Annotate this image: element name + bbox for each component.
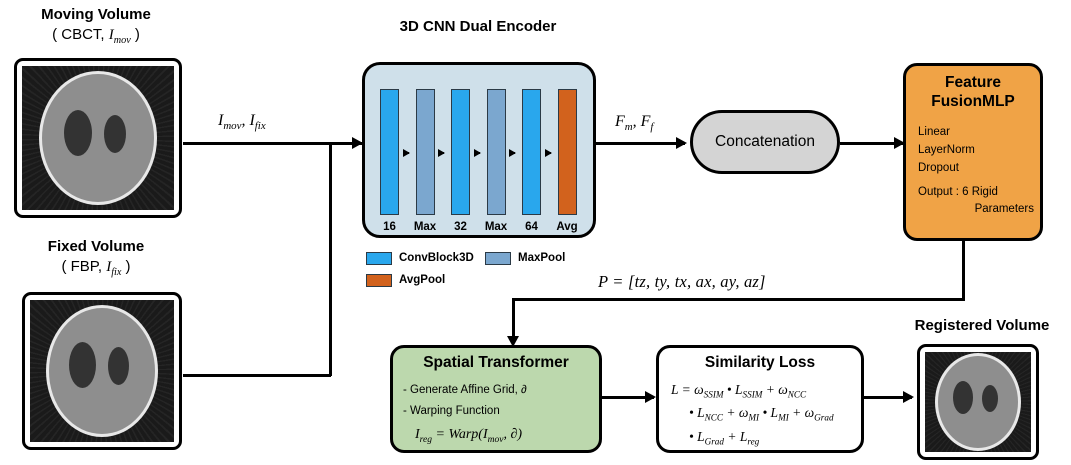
loss-l3-s2: reg [747,436,759,446]
encoder-block-convblock3d-4 [522,89,541,215]
encoder-block-label-0: 16 [372,221,407,233]
similarity-loss-node: Similarity Loss L = ωSSIM • LSSIM + ωNCC… [656,345,864,453]
legend-label-maxpool: MaxPool [518,252,565,264]
phantom-ventricle-right [104,115,126,153]
feature-fusion-mlp-node: Feature FusionMLP Linear LayerNorm Dropo… [903,63,1043,241]
encoder-block-label-3: Max [479,221,514,233]
fusion-mlp-line-dropout: Dropout [918,160,1040,178]
phantom-skull [938,356,1018,448]
loss-l1-a: L = ω [671,382,704,397]
edge-encoder-to-concat-arrowhead [676,137,687,149]
moving-volume-subtitle-suffix: ) [131,26,140,43]
feature-label-sub2: f [650,121,653,133]
loss-l2-s1: NCC [705,413,723,423]
encoder-block-label-5: Avg [550,221,585,233]
fusion-mlp-title-line2: FusionMLP [906,93,1040,112]
spatial-transformer-equation: Ireg = Warp(Imov, ∂) [415,427,599,445]
moving-volume-subtitle: ( CBCT, Imov ) [6,26,186,48]
loss-eq-line2: • LNCC + ωMI • LMI + ωGrad [671,402,861,426]
encoder-block-avgpool-5 [558,89,577,215]
fixed-volume-subtitle-prefix: ( FBP, [61,258,106,275]
edge-params-down [512,298,515,340]
fusion-mlp-title-line1: Feature [906,74,1040,93]
loss-l2-d: + ω [789,405,814,420]
encoder-block-convblock3d-0 [380,89,399,215]
stn-eq-rhs: = Warp(I [432,427,488,442]
edge-label-features: Fm, Ff [615,113,653,133]
registered-volume-title: Registered Volume [897,317,1067,336]
fixed-volume-subtitle-suffix: ) [121,258,130,275]
moving-volume-title: Moving Volume [6,6,186,25]
loss-l2-b: + ω [723,405,748,420]
loss-l2-c: • L [759,405,778,420]
fusion-mlp-line-linear: Linear [918,124,1040,142]
loss-l1-s2: SSIM [743,389,763,399]
edge-mlp-down [962,241,965,301]
legend-swatch-convblock3d [366,252,392,265]
loss-l2-s2: MI [748,413,759,423]
encoder-flow-arrow-4 [545,152,551,154]
feature-label-sym1: F [615,113,625,130]
stn-eq-lhs-sub: reg [420,435,432,445]
diagram-canvas: Moving Volume ( CBCT, Imov ) Fixed Volum… [0,0,1071,465]
concatenation-label: Concatenation [715,133,815,151]
phantom-ventricle-left [69,342,96,388]
feature-label-sep: , [633,113,641,130]
legend-label-convblock3d: ConvBlock3D [399,252,474,264]
edge-encoder-to-concat [596,142,685,145]
feature-label-sub1: m [625,121,633,133]
phantom-ventricle-right [108,347,129,385]
phantom-ventricle-left [64,110,92,156]
fusion-mlp-line-output-cont: Parameters [918,201,1040,219]
encoder-block-maxpool-1 [416,89,435,215]
fixed-volume-title: Fixed Volume [6,238,186,257]
encoder-block-label-2: 32 [443,221,478,233]
encoder-flow-arrow-0 [403,152,409,154]
loss-l1-c: + ω [762,382,787,397]
phantom-ventricle-right [982,385,998,412]
fixed-volume-phantom [30,300,174,442]
edge-params-horizontal [512,298,964,301]
encoder-block-maxpool-3 [487,89,506,215]
legend-label-avgpool: AvgPool [399,274,445,286]
fixed-volume-subtitle: ( FBP, Ifix ) [6,258,186,280]
fusion-mlp-line-output: Output : 6 Rigid [918,184,1040,202]
moving-volume-phantom [22,66,174,210]
encoder-block-label-1: Max [408,221,443,233]
edge-label-inputs: Imov, Ifix [218,112,266,132]
edge-fixed-vertical [329,142,332,376]
spatial-transformer-line-grid: - Generate Affine Grid, ∂ [403,382,599,400]
encoder-flow-arrow-2 [474,152,480,154]
encoder-panel: 16Max32Max64Avg [362,62,596,238]
concatenation-node: Concatenation [690,110,840,174]
loss-l1-s3: NCC [788,389,806,399]
fusion-mlp-line-layernorm: LayerNorm [918,142,1040,160]
legend-swatch-maxpool [485,252,511,265]
encoder-flow-arrow-1 [439,152,445,154]
spatial-transformer-node: Spatial Transformer - Generate Affine Gr… [390,345,602,453]
edge-fixed-horizontal [183,374,331,377]
input-label-sub1: mov [223,120,241,132]
edge-moving-to-encoder [183,142,363,145]
loss-eq-line1: L = ωSSIM • LSSIM + ωNCC [671,379,861,403]
similarity-loss-title: Similarity Loss [659,354,861,373]
feature-label-sym2: F [641,113,651,130]
spatial-transformer-title: Spatial Transformer [393,354,599,373]
encoder-block-label-4: 64 [514,221,549,233]
encoder-flow-arrow-3 [510,152,516,154]
registered-volume-phantom [925,352,1031,452]
loss-l3-s1: Grad [705,436,724,446]
encoder-title: 3D CNN Dual Encoder [358,18,598,37]
edge-stn-to-loss-arrowhead [645,391,656,403]
phantom-skull [42,74,154,202]
loss-l2-a: • L [689,405,705,420]
encoder-block-convblock3d-2 [451,89,470,215]
edge-loss-to-registered-arrowhead [903,391,914,403]
edge-label-params: P = [tz, ty, tx, ax, ay, az] [598,272,766,292]
spatial-transformer-line-warp: - Warping Function [403,403,599,421]
loss-eq-line3: • LGrad + Lreg [671,426,861,450]
phantom-ventricle-left [953,381,973,414]
loss-l2-s4: Grad [814,413,833,423]
phantom-skull [49,308,155,434]
loss-l2-s3: MI [778,413,789,423]
registered-volume-image [917,344,1039,460]
loss-l1-b: • L [724,382,743,397]
loss-l3-a: • L [689,429,705,444]
similarity-loss-equation: L = ωSSIM • LSSIM + ωNCC • LNCC + ωMI • … [671,379,861,450]
moving-volume-symbol-sub: mov [114,35,131,46]
loss-l3-b: + L [724,429,747,444]
fixed-volume-symbol-sub: fix [111,267,121,278]
moving-volume-image [14,58,182,218]
loss-l1-s1: SSIM [704,389,724,399]
legend-swatch-avgpool [366,274,392,287]
input-label-sub2: fix [255,120,266,132]
stn-eq-rhs-tail: , ∂) [503,427,522,442]
stn-eq-rhs-sub: mov [488,435,504,445]
moving-volume-subtitle-prefix: ( CBCT, [52,26,109,43]
fixed-volume-image [22,292,182,450]
